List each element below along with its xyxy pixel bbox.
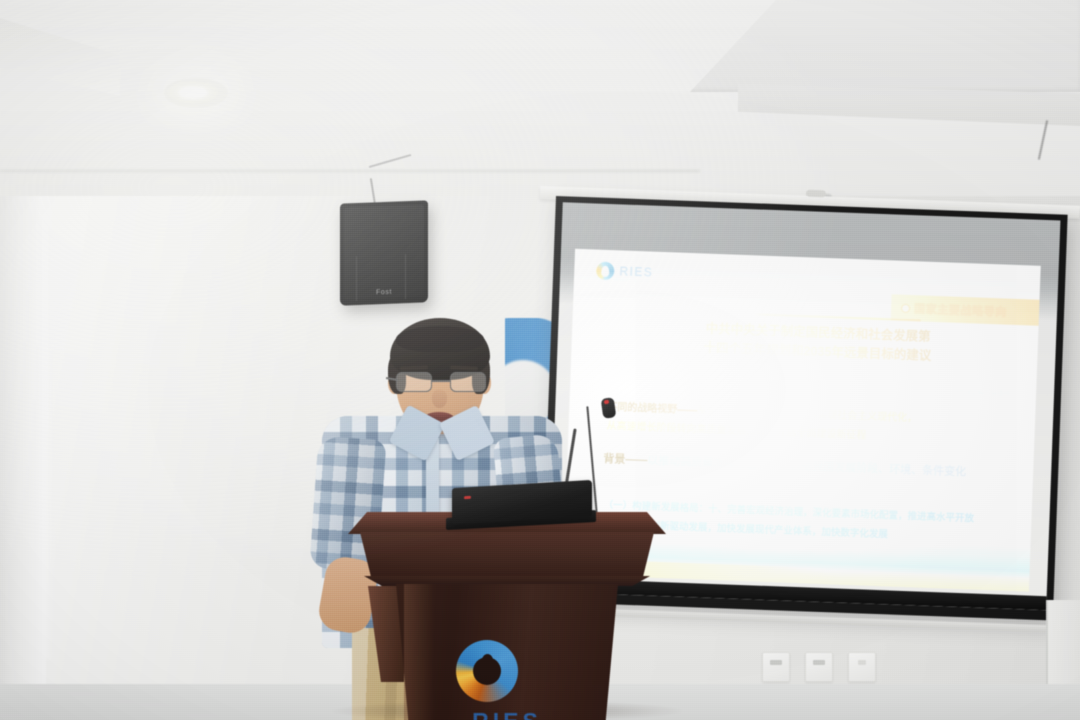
wall-data-port-2[interactable] [805, 652, 833, 682]
wall-speaker: Fost [340, 200, 428, 305]
presenter-nose [432, 390, 447, 408]
slide-note: 学习贯彻十九届五中全会精神 [927, 386, 1010, 398]
banner-bullet-icon [901, 303, 910, 312]
ries-emblem-icon [456, 640, 518, 702]
speaker-seam [405, 254, 406, 299]
lectern-logo-text: RIES [472, 708, 542, 720]
glasses-lens-right [450, 372, 486, 392]
screen-housing-mount [806, 190, 826, 198]
lectern-column-highlight [404, 584, 434, 720]
slide-p2-rest: 以推动高质量发展为主题，是根据我国发展阶段、环境、条件变化 [647, 455, 966, 479]
glasses-lens-left [396, 372, 432, 392]
wall-data-port-1[interactable] [762, 652, 790, 682]
glasses-bridge [432, 380, 450, 382]
downlight-glow [178, 86, 208, 99]
slide-paragraph-1: 不同的战略视野——从全面建成小康社会到基本实现社会主义现代化， 从高速增长阶段转… [606, 398, 1007, 451]
glasses-icon [394, 372, 488, 392]
wall-blank-plate[interactable] [848, 652, 876, 682]
ceiling-wall-joint [0, 170, 700, 172]
lectern: RIES [348, 512, 666, 720]
lectern-front-face [360, 532, 654, 580]
speaker-seam [356, 256, 357, 301]
slide-banner-text: 国家主要战略导向 [914, 300, 1007, 319]
laptop-brand-accent [464, 496, 471, 499]
presenter-hair-fringe [396, 326, 484, 352]
wall-outlet-group [762, 652, 876, 682]
slide-paragraph-2: 背景——以推动高质量发展为主题，是根据我国发展阶段、环境、条件变化 [603, 450, 1013, 484]
slide-title: 中共中央关于制定国民经济和社会发展第 十四个五年规划和2035年远景目标的建议 [667, 318, 968, 366]
emblem-center-cutout [473, 657, 501, 685]
photo-scene: Fost RIES Research Institute of Economic… [0, 0, 1080, 720]
speaker-brand-label: Fost [376, 289, 392, 297]
laptop[interactable] [444, 484, 592, 528]
slide-logo-subtext: Research Institute of Economic Strategy [597, 277, 689, 285]
slide-p1-line2: 从高速增长阶段转向高质量发展阶段，开启全面建设新征程 [606, 417, 1006, 451]
